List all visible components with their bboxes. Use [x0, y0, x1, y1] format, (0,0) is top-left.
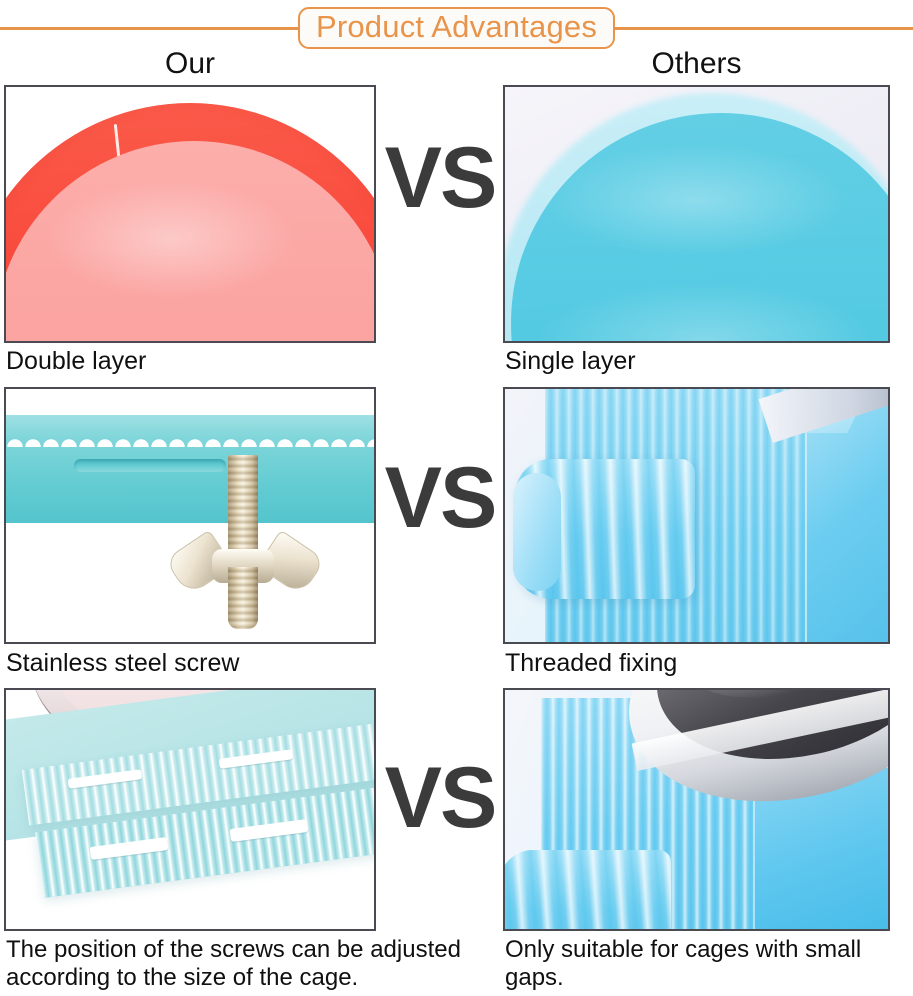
adjustment-slot — [74, 459, 226, 472]
screw-shaft-lower — [228, 567, 258, 629]
vs-marker-row1: VS — [378, 135, 502, 221]
our-image-double-layer — [4, 85, 376, 343]
caption-others-row3: Only suitable for cages with small gaps. — [505, 936, 905, 992]
title-box: Product Advantages — [298, 7, 615, 49]
blue-single-layer-bowl-photo — [505, 87, 888, 341]
scalloped-edge — [6, 433, 374, 447]
vs-marker-row2: VS — [378, 455, 502, 541]
title-rule-right — [615, 27, 913, 30]
highlight-sheen — [545, 145, 845, 255]
title-rule-left — [0, 27, 298, 30]
caption-our-row2: Stainless steel screw — [6, 649, 486, 678]
caption-others-row2: Threaded fixing — [505, 649, 905, 678]
our-image-adjustable-brackets — [4, 688, 376, 931]
screw-end-cap — [513, 473, 561, 591]
adjustable-ribbed-brackets-photo — [6, 690, 374, 929]
product-advantages-infographic: Product Advantages Our Others VS Double … — [0, 0, 913, 996]
others-image-threaded-fixing — [503, 387, 890, 644]
vs-marker-row3: VS — [378, 755, 502, 841]
blue-plastic-threaded-screw-photo — [505, 389, 888, 642]
stainless-wing-screw-photo — [6, 389, 374, 642]
pink-double-layer-bowl-photo — [6, 87, 374, 341]
column-header-our: Our — [4, 47, 376, 81]
others-image-single-layer — [503, 85, 890, 343]
our-image-stainless-screw — [4, 387, 376, 644]
blue-side-block — [805, 397, 890, 644]
plastic-threaded-screw — [503, 850, 671, 931]
caption-our-row3: The position of the screws can be adjust… — [6, 936, 486, 992]
caption-our-row1: Double layer — [6, 347, 486, 376]
page-title: Product Advantages — [316, 9, 597, 44]
caption-others-row1: Single layer — [505, 347, 905, 376]
fixed-blue-bracket-steel-bowl-photo — [505, 690, 888, 929]
column-header-others: Others — [503, 47, 890, 81]
highlight-glow — [46, 179, 296, 299]
others-image-small-gaps — [503, 688, 890, 931]
